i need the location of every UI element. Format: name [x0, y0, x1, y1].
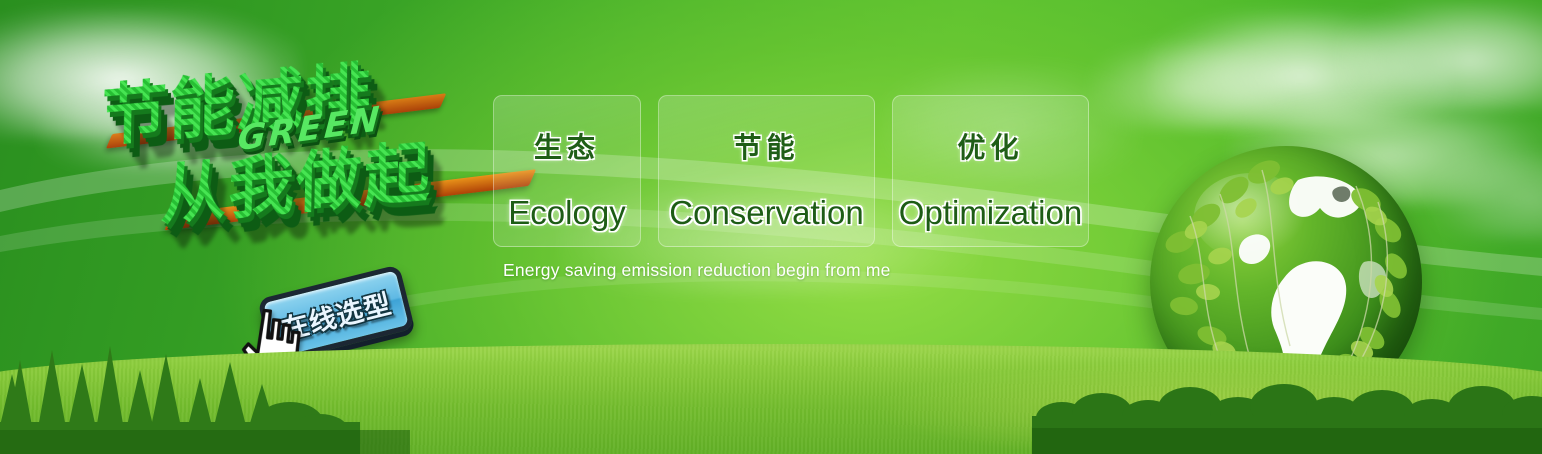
feature-card-conservation[interactable]: 节能 Conservation [658, 95, 875, 247]
banner-tagline: Energy saving emission reduction begin f… [503, 260, 891, 281]
feature-card-cn-label: 生态 [534, 126, 600, 166]
cloud-icon [1430, 150, 1542, 240]
feature-card-cn-label: 优化 [957, 126, 1023, 166]
cloud-icon [1150, 10, 1450, 130]
feature-card-en-label: Conservation [669, 194, 863, 232]
feature-card-ecology[interactable]: 生态 Ecology [493, 95, 641, 247]
feature-card-en-label: Optimization [899, 194, 1082, 232]
feature-card-list: 生态 Ecology 节能 Conservation 优化 Optimizati… [493, 95, 1089, 247]
cloud-icon [1090, 40, 1290, 130]
hero-3d-title: 节能减排 GREEN 从我做起 [91, 21, 510, 285]
feature-card-en-label: Ecology [508, 194, 625, 232]
cloud-icon [1340, 0, 1542, 110]
grass-field-icon [0, 344, 1542, 454]
energy-saving-banner: 节能减排 GREEN 从我做起 在线选型 生态 Ecology 节能 Conse… [0, 0, 1542, 454]
feature-card-optimization[interactable]: 优化 Optimization [892, 95, 1089, 247]
feature-card-cn-label: 节能 [733, 126, 799, 166]
